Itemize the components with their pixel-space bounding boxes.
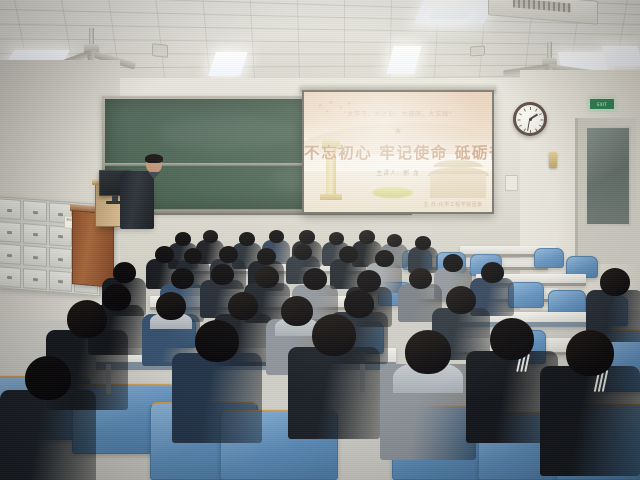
audience-head (415, 236, 431, 250)
audience-head (269, 230, 284, 243)
audience-head (195, 320, 239, 362)
audience-head (446, 286, 476, 314)
presenter (137, 155, 171, 229)
exit-sign-label: EXIT (597, 102, 607, 107)
audience-head (255, 266, 279, 288)
locker-door[interactable] (23, 268, 47, 290)
audience-head (481, 262, 504, 283)
audience-member (0, 356, 96, 480)
locker-door[interactable] (0, 243, 21, 265)
audience-head (405, 330, 451, 374)
locker-door[interactable] (23, 200, 47, 222)
audience-member (172, 320, 262, 452)
locker-door[interactable] (0, 266, 21, 288)
ceiling-speaker (470, 45, 485, 56)
slide-star-icon: ★ (304, 127, 492, 137)
audience-head (211, 264, 234, 285)
audience-head (228, 292, 258, 320)
audience-member (288, 314, 380, 448)
exit-sign-icon: EXIT (589, 98, 615, 110)
audience-head (375, 250, 394, 267)
audience-head (299, 230, 315, 244)
audience-head (566, 330, 614, 376)
ceiling-fan (540, 42, 558, 70)
audience-torso (288, 347, 380, 439)
clock-tick (518, 125, 521, 127)
slide-title: 不忘初心 牢记使命 砥砺奋进 (304, 141, 492, 163)
audience-head (113, 262, 136, 283)
audience-head (312, 314, 356, 356)
audience-head (155, 246, 174, 263)
presenter-hair (145, 154, 163, 163)
slide-footer-organizer: 主 办:化学工程学院团委 (423, 201, 482, 208)
audience-head (184, 248, 202, 264)
ceiling-panel-light (602, 46, 640, 66)
clock-tick (530, 130, 531, 133)
wall-clock (513, 102, 547, 136)
audience-head (203, 230, 218, 243)
vent-louvers (513, 0, 571, 12)
clock-center-pin (529, 118, 532, 121)
audience-head (357, 270, 381, 292)
audience-torso (540, 366, 640, 476)
chair[interactable] (534, 248, 564, 268)
audience-member (540, 330, 640, 480)
gate-body (430, 174, 486, 198)
locker-door[interactable] (49, 247, 73, 269)
clock-tick (523, 108, 525, 111)
classroom-door[interactable] (575, 118, 636, 264)
audience-torso (172, 353, 262, 443)
audience-head (490, 318, 534, 360)
audience-head (294, 244, 312, 260)
chalk-smudge (159, 117, 298, 150)
slide-presenter-line: 主讲人: 郭 龙 (304, 168, 492, 177)
locker-door[interactable] (23, 223, 47, 245)
locker-door[interactable] (49, 270, 73, 292)
ceiling-panel-light (428, 3, 473, 19)
clock-tick (523, 128, 525, 131)
audience-head (156, 292, 186, 320)
ribbon-icon (372, 187, 413, 198)
audience-head (257, 248, 276, 265)
clock-tick (538, 125, 541, 127)
audience-head (409, 268, 432, 289)
audience-head (359, 230, 375, 244)
locker-door[interactable] (0, 198, 21, 220)
presenter-body (120, 171, 154, 229)
audience-head (219, 246, 238, 263)
audience-head (303, 268, 327, 290)
audience-head (25, 356, 71, 400)
clock-tick (535, 108, 537, 111)
door-glass-panel (585, 126, 631, 226)
audience-head (329, 232, 344, 245)
audience-torso (0, 390, 96, 480)
clock-tick (530, 107, 531, 110)
classroom-photo: ★★ ★★ ★ “大学习、大讨论、大调研、大实践” ★ 不忘初心 牢记使命 砥砺… (0, 0, 640, 480)
ceiling-fan (82, 28, 100, 58)
slide-subtitle: “大学习、大讨论、大调研、大实践” (304, 109, 492, 118)
audience-head (171, 268, 194, 289)
audience-head (600, 268, 630, 296)
clock-tick (540, 120, 543, 121)
projection-screen[interactable]: ★★ ★★ ★ “大学习、大讨论、大调研、大实践” ★ 不忘初心 牢记使命 砥砺… (302, 90, 494, 214)
audience-head (339, 246, 358, 263)
clock-tick (517, 120, 520, 121)
monument-base (320, 194, 342, 200)
audience-head (175, 232, 191, 246)
audience-member (380, 330, 476, 470)
door-handle[interactable] (549, 152, 557, 168)
clock-tick (538, 113, 541, 115)
audience-head (443, 254, 463, 272)
ceiling-speaker (152, 43, 168, 58)
audience-head (387, 234, 402, 247)
locker-door[interactable] (0, 221, 21, 243)
audience-head (67, 300, 107, 338)
light-switch[interactable] (505, 175, 518, 191)
presentation-slide: ★★ ★★ ★ “大学习、大讨论、大调研、大实践” ★ 不忘初心 牢记使命 砥砺… (304, 92, 492, 212)
locker-door[interactable] (23, 245, 47, 267)
clock-tick (535, 128, 537, 131)
audience-head (239, 232, 255, 246)
clock-tick (518, 113, 521, 115)
